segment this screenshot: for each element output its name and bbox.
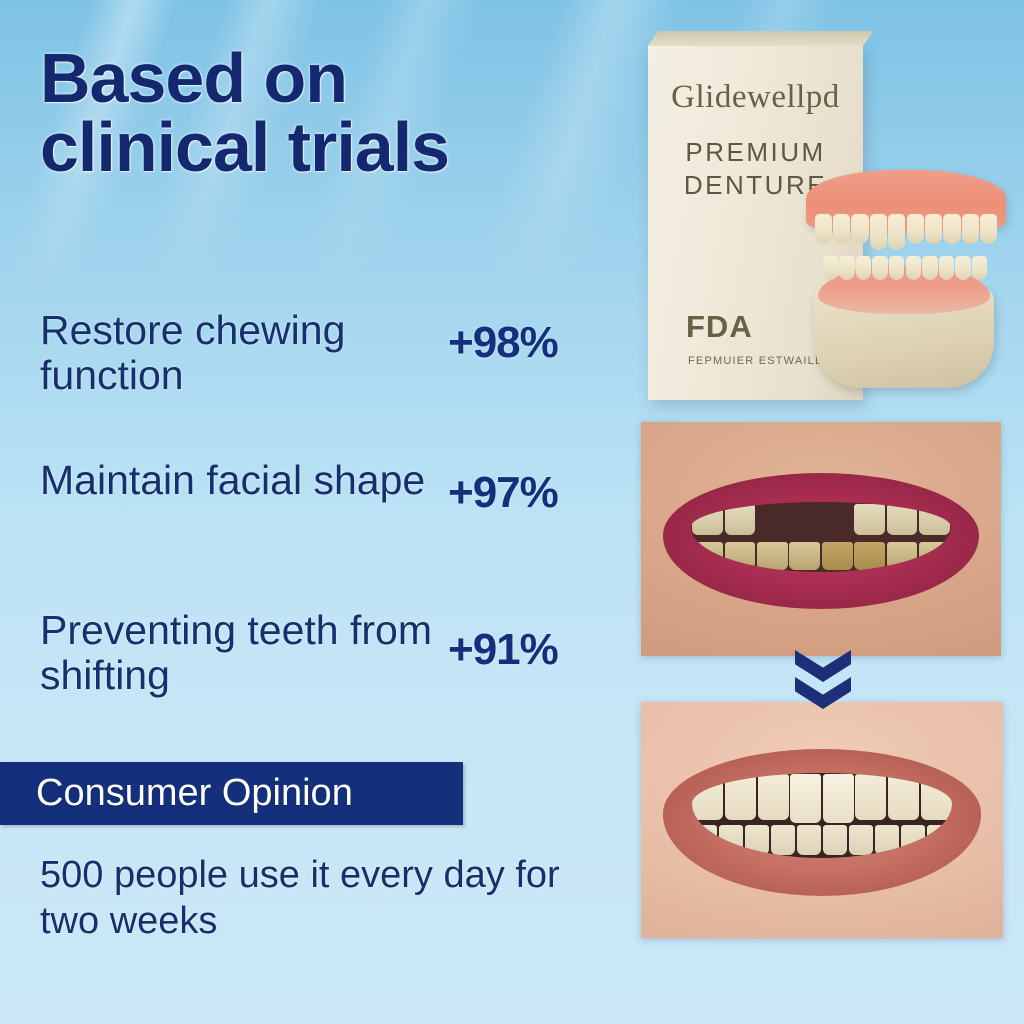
chevron-down-icon <box>795 650 851 684</box>
benefit-row: Preventing teeth from shifting +91% <box>40 608 640 698</box>
before-photo-mouth <box>691 502 950 572</box>
benefit-percentage: +97% <box>448 468 558 518</box>
benefit-row: Maintain facial shape +97% <box>40 458 640 518</box>
benefit-percentage: +98% <box>448 318 558 368</box>
after-upper-teeth <box>692 774 953 820</box>
consumer-opinion-banner: Consumer Opinion <box>0 762 463 825</box>
benefit-percentage: +91% <box>448 625 558 675</box>
before-upper-teeth <box>691 504 950 535</box>
product-shot: Glidewellpd PREMIUM DENTURE FDA FEPMUIER… <box>600 20 1024 400</box>
consumer-opinion-label: Consumer Opinion <box>36 772 353 815</box>
benefit-row: Restore chewing function +98% <box>40 308 640 398</box>
denture-lower-teeth <box>822 256 988 280</box>
consumer-opinion-note: 500 people use it every day for two week… <box>40 852 600 945</box>
before-lower-teeth <box>691 542 950 570</box>
denture-upper-teeth <box>814 214 998 250</box>
benefit-label: Maintain facial shape <box>40 458 448 503</box>
after-photo <box>641 702 1003 938</box>
headline-line-1: Based on <box>40 39 347 117</box>
headline-line-2: clinical trials <box>40 113 620 182</box>
chevron-down-icon <box>795 677 851 711</box>
denture-advertisement-poster: Based on clinical trials Restore chewing… <box>0 0 1024 1024</box>
after-lower-teeth <box>692 825 953 856</box>
fda-certification-label: FDA <box>686 309 753 345</box>
before-photo <box>641 422 1001 656</box>
product-brand-name: Glidewellpd <box>648 79 863 116</box>
after-photo-mouth <box>692 773 953 858</box>
double-chevron-down-icon <box>795 650 851 714</box>
benefit-label: Restore chewing function <box>40 308 448 398</box>
page-title: Based on clinical trials <box>40 44 620 181</box>
benefit-label: Preventing teeth from shifting <box>40 608 448 698</box>
denture-model-icon <box>796 170 1014 392</box>
product-name-line-1: PREMIUM <box>648 137 863 168</box>
